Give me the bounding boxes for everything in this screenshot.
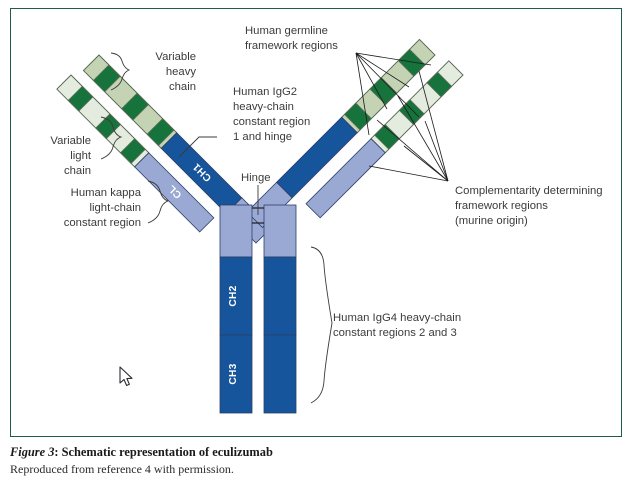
caption-title-text: : Schematic representation of eculizumab [54,445,272,459]
cdr-label-line-2: framework regions [455,200,548,212]
figure-caption: Figure 3: Schematic representation of ec… [10,445,622,476]
vl-label-line-1: Variable [50,135,91,147]
stem-right-hinge [264,205,296,257]
igg2-label-line-3: constant region [233,116,310,128]
stem-right-ch3 [264,335,296,413]
kappa-label-line-1: Human kappa [71,187,142,199]
stem-left-hinge [220,205,252,257]
label-cdr-murine: Complementarity determining framework re… [369,71,603,227]
caption-credit: Reproduced from reference 4 with permiss… [10,462,622,476]
hinge-label: Hinge [241,172,271,184]
antibody-diagram: CL CH1 [11,9,623,438]
vl-label-line-2: light [70,150,92,162]
igg4-brace [311,247,332,403]
igg2-label-line-4: 1 and hinge [233,131,292,143]
cdr-label-line-3: (murine origin) [455,215,528,227]
label-human-kappa: Human kappa light-chain constant region [64,181,168,229]
vh-label-line-2: heavy [166,66,196,78]
igg2-label-line-1: Human IgG2 [233,86,297,98]
label-human-igg4: Human IgG4 heavy-chain constant regions … [311,247,461,403]
caption-title-line: Figure 3: Schematic representation of ec… [10,445,622,460]
kappa-label-line-2: light-chain [90,202,142,214]
caption-figure-number: Figure 3 [10,445,54,459]
vh-label-line-1: Variable [155,51,196,63]
cdr-label-line-1: Complementarity determining [455,185,603,197]
stem-right-ch2 [264,257,296,335]
stem-left-ch2-label: CH2 [228,285,239,306]
label-human-igg2: Human IgG2 heavy-chain constant region 1… [179,86,310,157]
germline-label-line-1: Human germline [245,25,328,37]
figure-frame: CL CH1 [10,8,622,437]
igg4-label-line-2: constant regions 2 and 3 [333,327,457,339]
igg2-label-line-2: heavy-chain [233,101,294,113]
vl-label-line-3: chain [64,165,91,177]
igg4-label-line-1: Human IgG4 heavy-chain [333,312,461,324]
kappa-label-line-3: constant region [64,217,141,229]
stem-left-ch3-label: CH3 [228,363,239,384]
germline-label-line-2: framework regions [245,40,338,52]
vh-label-line-3: chain [169,81,196,93]
